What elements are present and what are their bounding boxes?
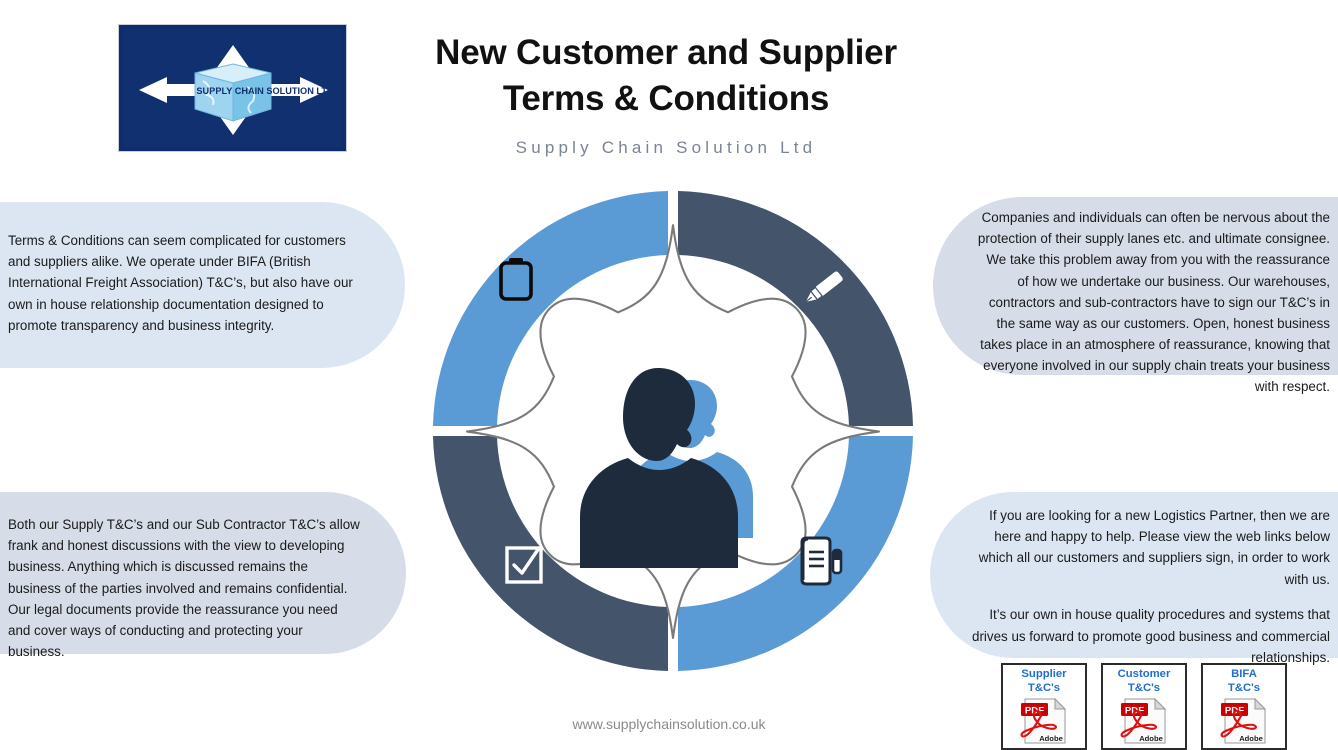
pdf-link-customer-label: Customer T&C's (1105, 668, 1183, 696)
callout-top-right: Companies and individuals can often be n… (933, 197, 1338, 375)
callout-bottom-left-paragraph-1: Both our Supply T&C’s and our Sub Contra… (8, 514, 362, 662)
document-pen-icon (796, 536, 844, 586)
logo-wordmark: SUPPLY CHAIN SOLUTION LTD (196, 86, 334, 96)
callout-bottom-left: Both our Supply T&C’s and our Sub Contra… (0, 492, 406, 654)
page-title: New Customer and Supplier Terms & Condit… (380, 30, 952, 122)
pdf-link-supplier-tcs[interactable]: Supplier T&C's PDF Adobe (1001, 663, 1087, 750)
two-people-silhouette-icon (580, 368, 753, 568)
cycle-diagram (428, 186, 918, 676)
pdf-adobe-icon: PDF Adobe (1015, 697, 1073, 745)
checkbox-checked-icon (503, 544, 545, 586)
clipboard-icon (496, 256, 536, 302)
svg-text:Adobe: Adobe (1039, 734, 1063, 743)
pdf-link-supplier-label: Supplier T&C's (1005, 668, 1083, 696)
pdf-links-row: Supplier T&C's PDF Adobe Customer T&C's (1001, 663, 1301, 750)
pdf-link-customer-tcs[interactable]: Customer T&C's PDF Adobe (1101, 663, 1187, 750)
pdf-adobe-icon: PDF Adobe (1215, 697, 1273, 745)
page-title-line1: New Customer and Supplier (380, 30, 952, 76)
svg-text:Adobe: Adobe (1139, 734, 1163, 743)
logo-artwork: SUPPLY CHAIN SOLUTION LTD (123, 29, 342, 147)
callout-top-left-paragraph-1: Terms & Conditions can seem complicated … (8, 230, 361, 336)
svg-text:Adobe: Adobe (1239, 734, 1263, 743)
pdf-link-bifa-tcs[interactable]: BIFA T&C's PDF Adobe (1201, 663, 1287, 750)
slide-canvas: SUPPLY CHAIN SOLUTION LTD New Customer a… (0, 0, 1338, 750)
page-subtitle: Supply Chain Solution Ltd (380, 138, 952, 158)
callout-bottom-right-paragraph-1: If you are looking for a new Logistics P… (970, 505, 1330, 590)
page-title-line2: Terms & Conditions (380, 76, 952, 122)
callout-top-right-paragraph-1: Companies and individuals can often be n… (973, 207, 1330, 398)
company-logo: SUPPLY CHAIN SOLUTION LTD (118, 24, 347, 152)
callout-bottom-right: If you are looking for a new Logistics P… (930, 492, 1338, 658)
logo-svg: SUPPLY CHAIN SOLUTION LTD (123, 29, 342, 147)
pdf-adobe-icon: PDF Adobe (1115, 697, 1173, 745)
pen-icon (798, 262, 854, 314)
pdf-link-bifa-label: BIFA T&C's (1205, 668, 1283, 696)
callout-bottom-right-paragraph-2: It’s our own in house quality procedures… (970, 604, 1330, 668)
callout-top-left: Terms & Conditions can seem complicated … (0, 202, 405, 368)
